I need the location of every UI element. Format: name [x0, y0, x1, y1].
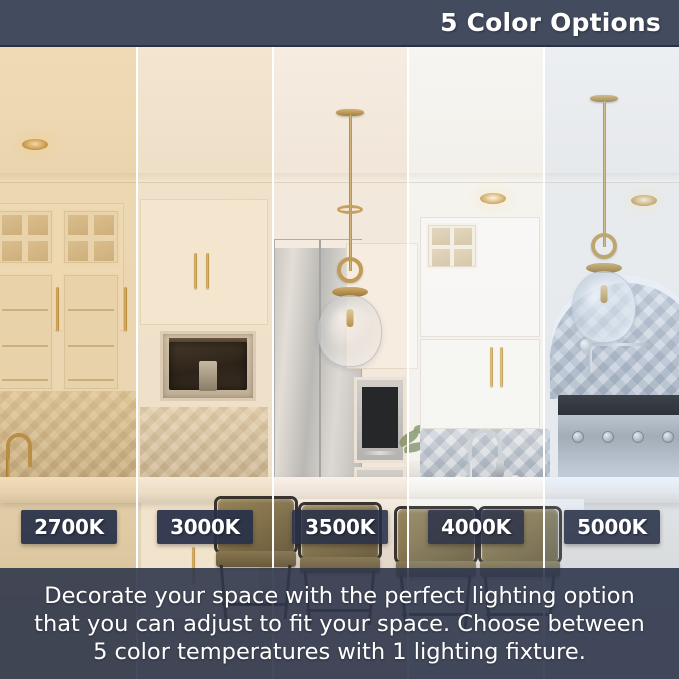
- countertop: [0, 477, 136, 503]
- label-4000k[interactable]: 4000K: [428, 510, 524, 544]
- page-title: 5 Color Options: [440, 8, 661, 37]
- caption-line-2: that you can adjust to fit your space. C…: [34, 610, 645, 638]
- recessed-can-light-icon: [22, 139, 48, 150]
- caption-line-3: 5 color temperatures with 1 lighting fix…: [93, 638, 586, 666]
- label-3500k[interactable]: 3500K: [292, 510, 388, 544]
- label-3000k[interactable]: 3000K: [157, 510, 253, 544]
- ceiling: [0, 47, 136, 179]
- caption-banner: Decorate your space with the perfect lig…: [0, 568, 679, 679]
- product-infographic: 5 Color Options: [0, 0, 679, 679]
- glass-cabinet-door: [0, 209, 54, 265]
- glass-cabinet-door: [62, 209, 120, 265]
- glass-cabinet-door: [62, 273, 120, 391]
- label-5000k[interactable]: 5000K: [564, 510, 660, 544]
- cabinet-pull: [56, 287, 59, 331]
- cabinet-pull: [124, 287, 127, 331]
- glass-cabinet-door: [0, 273, 54, 391]
- caption-line-1: Decorate your space with the perfect lig…: [44, 582, 634, 610]
- label-2700k[interactable]: 2700K: [21, 510, 117, 544]
- crown-molding: [0, 173, 136, 183]
- header-bar: 5 Color Options: [0, 0, 679, 47]
